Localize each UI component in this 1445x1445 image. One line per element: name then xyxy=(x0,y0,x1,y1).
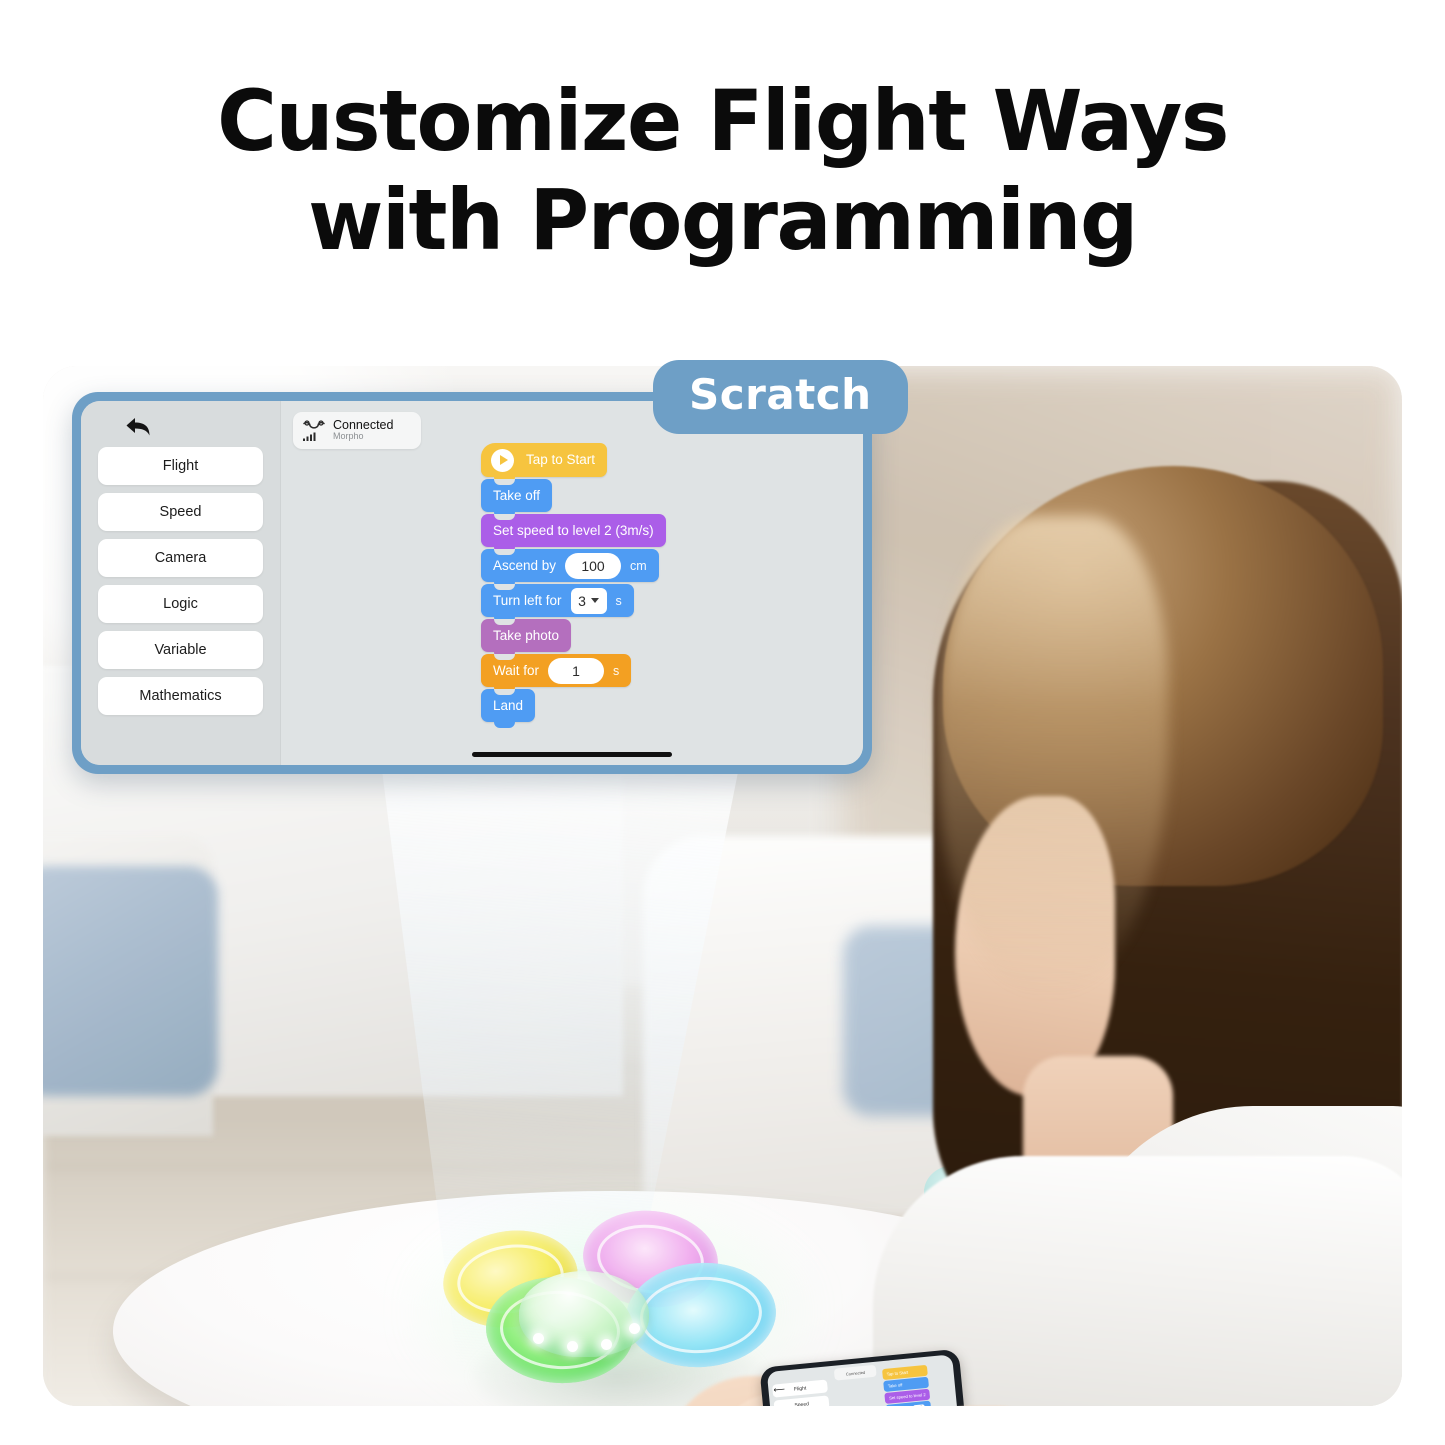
sidebar-item-speed[interactable]: Speed xyxy=(98,493,263,531)
page-title-line-2: with Programming xyxy=(22,171,1424,270)
blue-pillow xyxy=(43,866,218,1096)
promo-page: Customize Flight Ways with Programming xyxy=(0,0,1445,1445)
sidebar-item-mathematics[interactable]: Mathematics xyxy=(98,677,263,715)
home-indicator xyxy=(472,752,672,757)
sidebar-item-logic[interactable]: Logic xyxy=(98,585,263,623)
phone-back-arrow-icon[interactable]: ⟵ xyxy=(773,1385,785,1395)
block-take-photo[interactable]: Take photo xyxy=(481,619,571,652)
category-sidebar: Flight Speed Camera Logic Variable Mathe… xyxy=(81,401,281,765)
block-turn-left-for[interactable]: Turn left for 3 s xyxy=(481,584,634,617)
turn-left-dropdown[interactable]: 3 xyxy=(571,588,607,614)
block-stack: Tap to Start Take off Set speed to level… xyxy=(481,443,666,724)
connection-text: Connected Morpho xyxy=(333,419,393,442)
scratch-badge: Scratch xyxy=(653,360,908,434)
connection-device: Morpho xyxy=(333,432,393,442)
tablet-device: Flight Speed Camera Logic Variable Mathe… xyxy=(72,392,872,774)
back-arrow-icon[interactable] xyxy=(121,414,155,440)
phone-sidebar-item-speed[interactable]: Speed xyxy=(774,1395,830,1406)
sidebar-item-flight[interactable]: Flight xyxy=(98,447,263,485)
block-take-off[interactable]: Take off xyxy=(481,479,552,512)
sidebar-item-camera[interactable]: Camera xyxy=(98,539,263,577)
chevron-down-icon xyxy=(591,598,599,603)
ascend-value-input[interactable]: 100 xyxy=(565,553,621,579)
page-title: Customize Flight Ways with Programming xyxy=(22,72,1424,270)
connection-status-chip[interactable]: Connected Morpho xyxy=(293,412,421,449)
phone-block-stack: Tap to Start Take off Set speed to level… xyxy=(882,1365,936,1406)
block-tap-to-start[interactable]: Tap to Start xyxy=(481,443,607,477)
phone-canvas: Connected Tap to Start Take off Set spee… xyxy=(830,1354,964,1406)
tablet-screen: Flight Speed Camera Logic Variable Mathe… xyxy=(81,401,863,765)
block-set-speed[interactable]: Set speed to level 2 (3m/s) xyxy=(481,514,666,547)
block-ascend-by[interactable]: Ascend by 100 cm xyxy=(481,549,659,582)
block-land[interactable]: Land xyxy=(481,689,535,722)
wait-value-input[interactable]: 1 xyxy=(548,658,604,684)
sidebar-item-variable[interactable]: Variable xyxy=(98,631,263,669)
play-icon xyxy=(491,449,514,472)
phone-block-ascend-value[interactable]: 100 xyxy=(912,1404,925,1406)
phone-connection-chip: Connected xyxy=(834,1365,877,1381)
block-wait-for[interactable]: Wait for 1 s xyxy=(481,654,631,687)
page-title-line-1: Customize Flight Ways xyxy=(217,72,1228,170)
drone-signal-icon xyxy=(301,418,327,444)
block-canvas[interactable]: Connected Morpho Tap to Start Take off S… xyxy=(281,401,863,765)
connection-status: Connected xyxy=(333,419,393,433)
